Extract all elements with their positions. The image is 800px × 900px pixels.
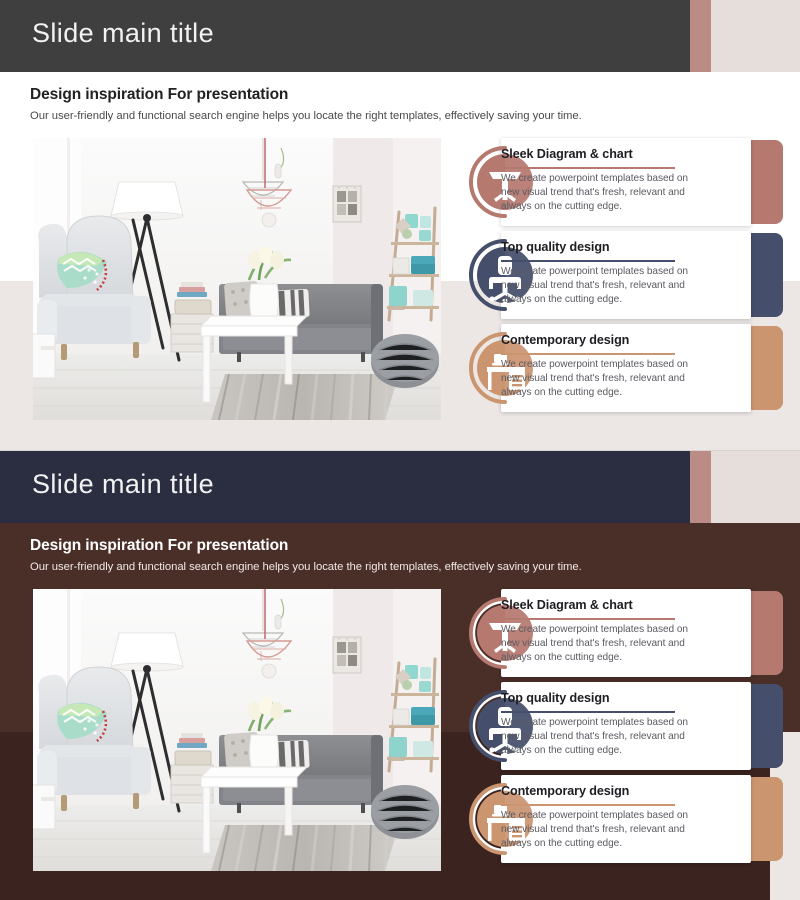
slide-deck-preview: Slide main title Design inspiration For …	[0, 0, 800, 900]
slide-light: Slide main title Design inspiration For …	[0, 0, 800, 451]
header-beige-accent	[711, 0, 800, 72]
header-rose-accent	[690, 451, 711, 523]
feature-card[interactable]: Contemporary design We create powerpoint…	[463, 775, 783, 863]
card-title: Sleek Diagram & chart	[501, 147, 633, 161]
card-divider	[501, 353, 675, 355]
section-title: Design inspiration For presentation	[30, 86, 288, 104]
slide-dark: Slide main title Design inspiration For …	[0, 451, 800, 900]
section-subtitle: Our user-friendly and functional search …	[30, 561, 582, 573]
feature-card[interactable]: Sleek Diagram & chart We create powerpoi…	[463, 138, 783, 226]
card-divider	[501, 260, 675, 262]
card-title: Top quality design	[501, 691, 610, 705]
card-divider	[501, 711, 675, 713]
slide-divider	[0, 450, 800, 451]
header-rose-accent	[690, 0, 711, 72]
card-description: We create powerpoint templates based on …	[501, 265, 709, 308]
card-title: Top quality design	[501, 240, 610, 254]
feature-card-list: Sleek Diagram & chart We create powerpoi…	[463, 589, 783, 881]
card-title: Contemporary design	[501, 333, 629, 347]
slide-title: Slide main title	[32, 469, 214, 500]
feature-card-list: Sleek Diagram & chart We create powerpoi…	[463, 138, 783, 430]
card-title: Sleek Diagram & chart	[501, 598, 633, 612]
interior-photo	[33, 138, 441, 420]
card-description: We create powerpoint templates based on …	[501, 172, 709, 215]
slide-header: Slide main title	[0, 451, 800, 523]
slide-title: Slide main title	[32, 18, 214, 49]
card-description: We create powerpoint templates based on …	[501, 809, 709, 852]
section-title: Design inspiration For presentation	[30, 537, 288, 555]
header-beige-accent	[711, 451, 800, 523]
card-description: We create powerpoint templates based on …	[501, 623, 709, 666]
section-subtitle: Our user-friendly and functional search …	[30, 110, 582, 122]
card-divider	[501, 618, 675, 620]
interior-photo	[33, 589, 441, 871]
feature-card[interactable]: Top quality design We create powerpoint …	[463, 682, 783, 770]
card-title: Contemporary design	[501, 784, 629, 798]
feature-card[interactable]: Top quality design We create powerpoint …	[463, 231, 783, 319]
slide-header: Slide main title	[0, 0, 800, 72]
feature-card[interactable]: Contemporary design We create powerpoint…	[463, 324, 783, 412]
card-description: We create powerpoint templates based on …	[501, 716, 709, 759]
card-divider	[501, 167, 675, 169]
feature-card[interactable]: Sleek Diagram & chart We create powerpoi…	[463, 589, 783, 677]
card-description: We create powerpoint templates based on …	[501, 358, 709, 401]
card-divider	[501, 804, 675, 806]
